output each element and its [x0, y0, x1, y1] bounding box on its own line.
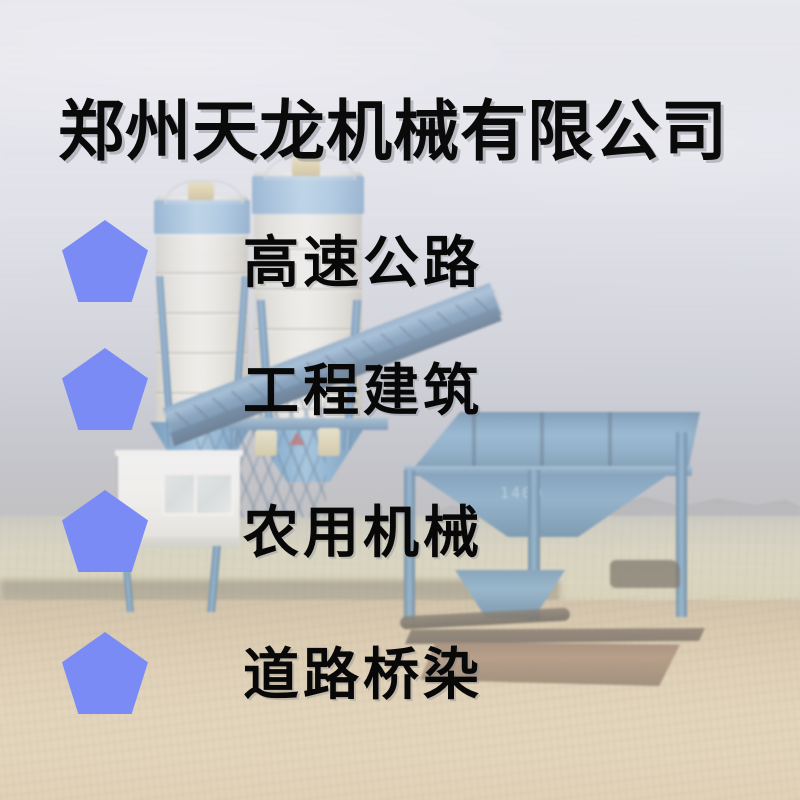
silo-left-dust-collector	[188, 182, 214, 200]
pentagon-icon	[62, 220, 148, 302]
feature-item-1: 高速公路	[0, 212, 800, 308]
cabin-roof	[115, 450, 243, 456]
pentagon-icon	[62, 632, 148, 714]
feature-label-4: 道路桥染	[243, 630, 483, 711]
page-title: 郑州天龙机械有限公司	[58, 78, 728, 174]
pentagon-icon	[62, 490, 148, 572]
feature-item-2: 工程建筑	[0, 340, 800, 436]
hopper-lip	[404, 466, 692, 476]
feature-label-1: 高速公路	[243, 218, 483, 299]
feature-item-4: 道路桥染	[0, 624, 800, 720]
feature-label-3: 农用机械	[243, 488, 483, 569]
poster: 1400	[0, 0, 800, 800]
feature-label-2: 工程建筑	[243, 346, 483, 427]
silo-right-collar	[252, 176, 364, 214]
feature-item-3: 农用机械	[0, 482, 800, 578]
pentagon-icon	[62, 348, 148, 430]
